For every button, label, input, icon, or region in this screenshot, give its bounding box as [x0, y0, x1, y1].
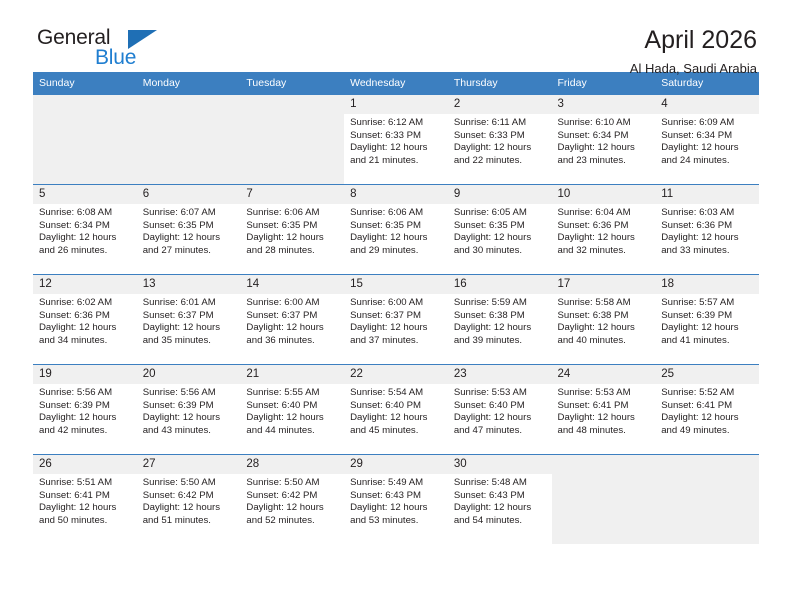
day-number: 29	[344, 455, 448, 474]
weekday-header-thursday: Thursday	[448, 72, 552, 95]
calendar-day-cell[interactable]: 10Sunrise: 6:04 AMSunset: 6:36 PMDayligh…	[552, 185, 656, 275]
daylight-text: Daylight: 12 hours	[454, 142, 547, 155]
daylight-text: and 51 minutes.	[143, 515, 236, 528]
calendar-day-cell[interactable]: 7Sunrise: 6:06 AMSunset: 6:35 PMDaylight…	[240, 185, 344, 275]
sunset-text: Sunset: 6:42 PM	[143, 490, 236, 503]
sunrise-text: Sunrise: 5:50 AM	[246, 477, 339, 490]
day-number: 28	[240, 455, 344, 474]
day-number: 4	[655, 95, 759, 114]
sunrise-text: Sunrise: 6:06 AM	[350, 207, 443, 220]
day-details: Sunrise: 5:51 AMSunset: 6:41 PMDaylight:…	[33, 474, 137, 527]
day-details: Sunrise: 6:05 AMSunset: 6:35 PMDaylight:…	[448, 204, 552, 257]
day-number: 1	[344, 95, 448, 114]
daylight-text: and 42 minutes.	[39, 425, 132, 438]
daylight-text: Daylight: 12 hours	[143, 502, 236, 515]
day-details: Sunrise: 6:03 AMSunset: 6:36 PMDaylight:…	[655, 204, 759, 257]
calendar-day-cell[interactable]: 8Sunrise: 6:06 AMSunset: 6:35 PMDaylight…	[344, 185, 448, 275]
sunrise-text: Sunrise: 6:00 AM	[246, 297, 339, 310]
day-details: Sunrise: 5:59 AMSunset: 6:38 PMDaylight:…	[448, 294, 552, 347]
daylight-text: and 49 minutes.	[661, 425, 754, 438]
calendar-day-cell[interactable]: 14Sunrise: 6:00 AMSunset: 6:37 PMDayligh…	[240, 275, 344, 365]
calendar-page: General Blue April 2026 Al Hada, Saudi A…	[0, 0, 792, 612]
day-number: 16	[448, 275, 552, 294]
sunrise-text: Sunrise: 5:58 AM	[558, 297, 651, 310]
daylight-text: Daylight: 12 hours	[661, 412, 754, 425]
calendar-day-cell[interactable]: 30Sunrise: 5:48 AMSunset: 6:43 PMDayligh…	[448, 455, 552, 545]
daylight-text: and 23 minutes.	[558, 155, 651, 168]
daylight-text: Daylight: 12 hours	[39, 412, 132, 425]
sunrise-text: Sunrise: 5:49 AM	[350, 477, 443, 490]
day-number: 25	[655, 365, 759, 384]
calendar-day-cell[interactable]: 26Sunrise: 5:51 AMSunset: 6:41 PMDayligh…	[33, 455, 137, 545]
day-details: Sunrise: 6:01 AMSunset: 6:37 PMDaylight:…	[137, 294, 241, 347]
daylight-text: and 27 minutes.	[143, 245, 236, 258]
daylight-text: Daylight: 12 hours	[246, 322, 339, 335]
day-number: 8	[344, 185, 448, 204]
calendar-table: SundayMondayTuesdayWednesdayThursdayFrid…	[33, 72, 759, 544]
calendar-week-row: 19Sunrise: 5:56 AMSunset: 6:39 PMDayligh…	[33, 365, 759, 455]
calendar-day-cell[interactable]: 17Sunrise: 5:58 AMSunset: 6:38 PMDayligh…	[552, 275, 656, 365]
day-number: 12	[33, 275, 137, 294]
day-number: 5	[33, 185, 137, 204]
daylight-text: Daylight: 12 hours	[350, 142, 443, 155]
generalblue-logo: General Blue	[33, 26, 163, 74]
daylight-text: and 52 minutes.	[246, 515, 339, 528]
daylight-text: and 40 minutes.	[558, 335, 651, 348]
calendar-week-row: 12Sunrise: 6:02 AMSunset: 6:36 PMDayligh…	[33, 275, 759, 365]
daylight-text: Daylight: 12 hours	[350, 232, 443, 245]
sunrise-text: Sunrise: 6:11 AM	[454, 117, 547, 130]
calendar-day-cell[interactable]: 20Sunrise: 5:56 AMSunset: 6:39 PMDayligh…	[137, 365, 241, 455]
sunrise-text: Sunrise: 6:01 AM	[143, 297, 236, 310]
daylight-text: Daylight: 12 hours	[39, 322, 132, 335]
calendar-week-row: 5Sunrise: 6:08 AMSunset: 6:34 PMDaylight…	[33, 185, 759, 275]
sunset-text: Sunset: 6:41 PM	[558, 400, 651, 413]
daylight-text: Daylight: 12 hours	[454, 232, 547, 245]
daylight-text: and 22 minutes.	[454, 155, 547, 168]
sunrise-text: Sunrise: 5:51 AM	[39, 477, 132, 490]
daylight-text: and 39 minutes.	[454, 335, 547, 348]
calendar-cell-empty	[655, 455, 759, 545]
daylight-text: Daylight: 12 hours	[558, 322, 651, 335]
calendar-day-cell[interactable]: 1Sunrise: 6:12 AMSunset: 6:33 PMDaylight…	[344, 95, 448, 185]
day-number: 30	[448, 455, 552, 474]
sunrise-text: Sunrise: 5:48 AM	[454, 477, 547, 490]
day-details: Sunrise: 6:10 AMSunset: 6:34 PMDaylight:…	[552, 114, 656, 167]
calendar-day-cell[interactable]: 3Sunrise: 6:10 AMSunset: 6:34 PMDaylight…	[552, 95, 656, 185]
daylight-text: Daylight: 12 hours	[454, 502, 547, 515]
sunset-text: Sunset: 6:43 PM	[454, 490, 547, 503]
day-number: 22	[344, 365, 448, 384]
day-details: Sunrise: 5:53 AMSunset: 6:41 PMDaylight:…	[552, 384, 656, 437]
calendar-day-cell[interactable]: 11Sunrise: 6:03 AMSunset: 6:36 PMDayligh…	[655, 185, 759, 275]
page-title: April 2026	[630, 26, 757, 55]
sunset-text: Sunset: 6:35 PM	[350, 220, 443, 233]
daylight-text: and 50 minutes.	[39, 515, 132, 528]
sunset-text: Sunset: 6:42 PM	[246, 490, 339, 503]
day-details: Sunrise: 6:12 AMSunset: 6:33 PMDaylight:…	[344, 114, 448, 167]
day-number: 18	[655, 275, 759, 294]
calendar-day-cell[interactable]: 29Sunrise: 5:49 AMSunset: 6:43 PMDayligh…	[344, 455, 448, 545]
sunrise-text: Sunrise: 6:03 AM	[661, 207, 754, 220]
sunrise-text: Sunrise: 5:50 AM	[143, 477, 236, 490]
day-details: Sunrise: 6:08 AMSunset: 6:34 PMDaylight:…	[33, 204, 137, 257]
daylight-text: Daylight: 12 hours	[454, 412, 547, 425]
title-block: April 2026 Al Hada, Saudi Arabia	[630, 26, 759, 78]
daylight-text: and 30 minutes.	[454, 245, 547, 258]
daylight-text: and 34 minutes.	[39, 335, 132, 348]
sunrise-text: Sunrise: 6:08 AM	[39, 207, 132, 220]
day-details: Sunrise: 5:55 AMSunset: 6:40 PMDaylight:…	[240, 384, 344, 437]
sunrise-text: Sunrise: 6:07 AM	[143, 207, 236, 220]
sunset-text: Sunset: 6:36 PM	[39, 310, 132, 323]
sunset-text: Sunset: 6:35 PM	[143, 220, 236, 233]
daylight-text: Daylight: 12 hours	[39, 502, 132, 515]
sunset-text: Sunset: 6:38 PM	[454, 310, 547, 323]
sunset-text: Sunset: 6:39 PM	[39, 400, 132, 413]
sunset-text: Sunset: 6:37 PM	[143, 310, 236, 323]
daylight-text: Daylight: 12 hours	[454, 322, 547, 335]
day-details: Sunrise: 5:50 AMSunset: 6:42 PMDaylight:…	[137, 474, 241, 527]
daylight-text: Daylight: 12 hours	[350, 412, 443, 425]
daylight-text: Daylight: 12 hours	[558, 412, 651, 425]
calendar-day-cell[interactable]: 18Sunrise: 5:57 AMSunset: 6:39 PMDayligh…	[655, 275, 759, 365]
sunrise-text: Sunrise: 5:57 AM	[661, 297, 754, 310]
day-number: 7	[240, 185, 344, 204]
daylight-text: and 21 minutes.	[350, 155, 443, 168]
sunrise-text: Sunrise: 5:56 AM	[39, 387, 132, 400]
calendar-day-cell[interactable]: 6Sunrise: 6:07 AMSunset: 6:35 PMDaylight…	[137, 185, 241, 275]
calendar-week-row: 1Sunrise: 6:12 AMSunset: 6:33 PMDaylight…	[33, 95, 759, 185]
calendar-day-cell[interactable]: 2Sunrise: 6:11 AMSunset: 6:33 PMDaylight…	[448, 95, 552, 185]
day-details: Sunrise: 5:48 AMSunset: 6:43 PMDaylight:…	[448, 474, 552, 527]
daylight-text: Daylight: 12 hours	[39, 232, 132, 245]
day-details: Sunrise: 6:06 AMSunset: 6:35 PMDaylight:…	[240, 204, 344, 257]
daylight-text: and 43 minutes.	[143, 425, 236, 438]
sunset-text: Sunset: 6:38 PM	[558, 310, 651, 323]
sunset-text: Sunset: 6:33 PM	[350, 130, 443, 143]
sunset-text: Sunset: 6:37 PM	[246, 310, 339, 323]
day-number: 13	[137, 275, 241, 294]
calendar-day-cell[interactable]: 25Sunrise: 5:52 AMSunset: 6:41 PMDayligh…	[655, 365, 759, 455]
weekday-header-tuesday: Tuesday	[240, 72, 344, 95]
calendar-day-cell[interactable]: 16Sunrise: 5:59 AMSunset: 6:38 PMDayligh…	[448, 275, 552, 365]
sunrise-text: Sunrise: 6:09 AM	[661, 117, 754, 130]
day-details: Sunrise: 6:02 AMSunset: 6:36 PMDaylight:…	[33, 294, 137, 347]
weekday-header-sunday: Sunday	[33, 72, 137, 95]
day-details: Sunrise: 5:49 AMSunset: 6:43 PMDaylight:…	[344, 474, 448, 527]
calendar-body: 1Sunrise: 6:12 AMSunset: 6:33 PMDaylight…	[33, 95, 759, 545]
daylight-text: and 35 minutes.	[143, 335, 236, 348]
day-details: Sunrise: 6:00 AMSunset: 6:37 PMDaylight:…	[240, 294, 344, 347]
daylight-text: Daylight: 12 hours	[661, 232, 754, 245]
daylight-text: and 26 minutes.	[39, 245, 132, 258]
sunset-text: Sunset: 6:36 PM	[661, 220, 754, 233]
daylight-text: and 44 minutes.	[246, 425, 339, 438]
day-number: 23	[448, 365, 552, 384]
sunrise-text: Sunrise: 5:53 AM	[558, 387, 651, 400]
daylight-text: and 36 minutes.	[246, 335, 339, 348]
daylight-text: and 29 minutes.	[350, 245, 443, 258]
sunrise-text: Sunrise: 6:00 AM	[350, 297, 443, 310]
sunrise-text: Sunrise: 5:53 AM	[454, 387, 547, 400]
day-details: Sunrise: 5:50 AMSunset: 6:42 PMDaylight:…	[240, 474, 344, 527]
sunset-text: Sunset: 6:39 PM	[143, 400, 236, 413]
day-details: Sunrise: 6:09 AMSunset: 6:34 PMDaylight:…	[655, 114, 759, 167]
day-number: 15	[344, 275, 448, 294]
sunset-text: Sunset: 6:33 PM	[454, 130, 547, 143]
day-number: 24	[552, 365, 656, 384]
daylight-text: and 37 minutes.	[350, 335, 443, 348]
day-details: Sunrise: 5:57 AMSunset: 6:39 PMDaylight:…	[655, 294, 759, 347]
calendar-day-cell[interactable]: 21Sunrise: 5:55 AMSunset: 6:40 PMDayligh…	[240, 365, 344, 455]
calendar-day-cell[interactable]: 12Sunrise: 6:02 AMSunset: 6:36 PMDayligh…	[33, 275, 137, 365]
day-details: Sunrise: 6:00 AMSunset: 6:37 PMDaylight:…	[344, 294, 448, 347]
calendar-cell-empty	[33, 95, 137, 185]
logo-text-blue: Blue	[95, 46, 136, 70]
sunset-text: Sunset: 6:35 PM	[246, 220, 339, 233]
calendar-day-cell[interactable]: 28Sunrise: 5:50 AMSunset: 6:42 PMDayligh…	[240, 455, 344, 545]
sunrise-text: Sunrise: 6:04 AM	[558, 207, 651, 220]
daylight-text: Daylight: 12 hours	[558, 142, 651, 155]
day-number: 21	[240, 365, 344, 384]
day-number: 3	[552, 95, 656, 114]
daylight-text: Daylight: 12 hours	[661, 322, 754, 335]
day-details: Sunrise: 5:52 AMSunset: 6:41 PMDaylight:…	[655, 384, 759, 437]
sunset-text: Sunset: 6:34 PM	[558, 130, 651, 143]
day-details: Sunrise: 6:07 AMSunset: 6:35 PMDaylight:…	[137, 204, 241, 257]
daylight-text: and 41 minutes.	[661, 335, 754, 348]
weekday-header-wednesday: Wednesday	[344, 72, 448, 95]
page-subtitle: Al Hada, Saudi Arabia	[630, 60, 757, 78]
sunrise-text: Sunrise: 6:05 AM	[454, 207, 547, 220]
calendar-day-cell[interactable]: 19Sunrise: 5:56 AMSunset: 6:39 PMDayligh…	[33, 365, 137, 455]
calendar-day-cell[interactable]: 9Sunrise: 6:05 AMSunset: 6:35 PMDaylight…	[448, 185, 552, 275]
daylight-text: Daylight: 12 hours	[246, 502, 339, 515]
sunset-text: Sunset: 6:34 PM	[661, 130, 754, 143]
sunrise-text: Sunrise: 6:12 AM	[350, 117, 443, 130]
sunrise-text: Sunrise: 5:55 AM	[246, 387, 339, 400]
day-number: 26	[33, 455, 137, 474]
sunset-text: Sunset: 6:40 PM	[246, 400, 339, 413]
calendar-day-cell[interactable]: 27Sunrise: 5:50 AMSunset: 6:42 PMDayligh…	[137, 455, 241, 545]
daylight-text: and 28 minutes.	[246, 245, 339, 258]
calendar-day-cell[interactable]: 23Sunrise: 5:53 AMSunset: 6:40 PMDayligh…	[448, 365, 552, 455]
day-number: 27	[137, 455, 241, 474]
daylight-text: Daylight: 12 hours	[558, 232, 651, 245]
day-number: 17	[552, 275, 656, 294]
daylight-text: Daylight: 12 hours	[661, 142, 754, 155]
day-number: 6	[137, 185, 241, 204]
day-details: Sunrise: 6:04 AMSunset: 6:36 PMDaylight:…	[552, 204, 656, 257]
daylight-text: Daylight: 12 hours	[143, 322, 236, 335]
calendar-day-cell[interactable]: 4Sunrise: 6:09 AMSunset: 6:34 PMDaylight…	[655, 95, 759, 185]
sunrise-text: Sunrise: 5:54 AM	[350, 387, 443, 400]
day-number: 11	[655, 185, 759, 204]
daylight-text: and 45 minutes.	[350, 425, 443, 438]
daylight-text: Daylight: 12 hours	[143, 232, 236, 245]
day-details: Sunrise: 5:56 AMSunset: 6:39 PMDaylight:…	[137, 384, 241, 437]
day-number: 19	[33, 365, 137, 384]
day-number: 2	[448, 95, 552, 114]
calendar-day-cell[interactable]: 5Sunrise: 6:08 AMSunset: 6:34 PMDaylight…	[33, 185, 137, 275]
sunrise-text: Sunrise: 6:02 AM	[39, 297, 132, 310]
calendar-day-cell[interactable]: 22Sunrise: 5:54 AMSunset: 6:40 PMDayligh…	[344, 365, 448, 455]
daylight-text: and 54 minutes.	[454, 515, 547, 528]
weekday-header-monday: Monday	[137, 72, 241, 95]
day-details: Sunrise: 6:06 AMSunset: 6:35 PMDaylight:…	[344, 204, 448, 257]
daylight-text: and 33 minutes.	[661, 245, 754, 258]
daylight-text: and 47 minutes.	[454, 425, 547, 438]
daylight-text: and 48 minutes.	[558, 425, 651, 438]
calendar-day-cell[interactable]: 24Sunrise: 5:53 AMSunset: 6:41 PMDayligh…	[552, 365, 656, 455]
calendar-cell-empty	[240, 95, 344, 185]
daylight-text: Daylight: 12 hours	[246, 232, 339, 245]
calendar-day-cell[interactable]: 13Sunrise: 6:01 AMSunset: 6:37 PMDayligh…	[137, 275, 241, 365]
day-number: 9	[448, 185, 552, 204]
calendar-cell-empty	[552, 455, 656, 545]
daylight-text: and 24 minutes.	[661, 155, 754, 168]
sunset-text: Sunset: 6:39 PM	[661, 310, 754, 323]
sunset-text: Sunset: 6:36 PM	[558, 220, 651, 233]
sunset-text: Sunset: 6:37 PM	[350, 310, 443, 323]
page-header: General Blue April 2026 Al Hada, Saudi A…	[33, 0, 759, 72]
sunrise-text: Sunrise: 5:52 AM	[661, 387, 754, 400]
sunset-text: Sunset: 6:41 PM	[661, 400, 754, 413]
day-details: Sunrise: 5:56 AMSunset: 6:39 PMDaylight:…	[33, 384, 137, 437]
day-details: Sunrise: 5:53 AMSunset: 6:40 PMDaylight:…	[448, 384, 552, 437]
sunset-text: Sunset: 6:35 PM	[454, 220, 547, 233]
sunrise-text: Sunrise: 5:59 AM	[454, 297, 547, 310]
sunrise-text: Sunrise: 6:10 AM	[558, 117, 651, 130]
day-details: Sunrise: 5:58 AMSunset: 6:38 PMDaylight:…	[552, 294, 656, 347]
day-number: 14	[240, 275, 344, 294]
sunset-text: Sunset: 6:43 PM	[350, 490, 443, 503]
calendar-week-row: 26Sunrise: 5:51 AMSunset: 6:41 PMDayligh…	[33, 455, 759, 545]
calendar-cell-empty	[137, 95, 241, 185]
day-details: Sunrise: 5:54 AMSunset: 6:40 PMDaylight:…	[344, 384, 448, 437]
sunset-text: Sunset: 6:34 PM	[39, 220, 132, 233]
sunset-text: Sunset: 6:41 PM	[39, 490, 132, 503]
sunrise-text: Sunrise: 6:06 AM	[246, 207, 339, 220]
daylight-text: and 32 minutes.	[558, 245, 651, 258]
daylight-text: Daylight: 12 hours	[350, 502, 443, 515]
daylight-text: Daylight: 12 hours	[350, 322, 443, 335]
sunset-text: Sunset: 6:40 PM	[454, 400, 547, 413]
day-number: 20	[137, 365, 241, 384]
sunset-text: Sunset: 6:40 PM	[350, 400, 443, 413]
daylight-text: Daylight: 12 hours	[143, 412, 236, 425]
day-details: Sunrise: 6:11 AMSunset: 6:33 PMDaylight:…	[448, 114, 552, 167]
sunrise-text: Sunrise: 5:56 AM	[143, 387, 236, 400]
calendar-day-cell[interactable]: 15Sunrise: 6:00 AMSunset: 6:37 PMDayligh…	[344, 275, 448, 365]
daylight-text: and 53 minutes.	[350, 515, 443, 528]
day-number: 10	[552, 185, 656, 204]
daylight-text: Daylight: 12 hours	[246, 412, 339, 425]
